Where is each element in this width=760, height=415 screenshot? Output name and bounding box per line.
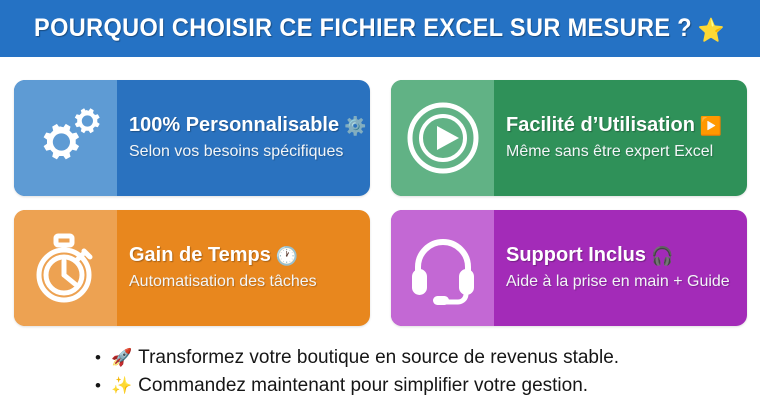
list-item: • 🚀 Transformez votre boutique en source… bbox=[95, 344, 665, 372]
card-title: Facilité d’Utilisation▶️ bbox=[506, 114, 737, 137]
card-title-text: Facilité d’Utilisation bbox=[506, 114, 695, 136]
play-button-emoji: ▶️ bbox=[700, 116, 722, 136]
star-emoji: ⭐ bbox=[698, 17, 725, 43]
feature-card-personnalisable[interactable]: 100% Personnalisable⚙️ Selon vos besoins… bbox=[14, 80, 370, 196]
card-icon-panel bbox=[391, 210, 494, 326]
sparkles-emoji: ✨ bbox=[111, 374, 132, 399]
stopwatch-icon bbox=[29, 230, 103, 306]
card-body: Support Inclus🎧 Aide à la prise en main … bbox=[494, 210, 747, 326]
card-title-text: Support Inclus bbox=[506, 244, 646, 266]
card-body: Facilité d’Utilisation▶️ Même sans être … bbox=[494, 80, 747, 196]
page-title: POURQUOI CHOISIR CE FICHIER EXCEL SUR ME… bbox=[35, 14, 726, 44]
feature-card-gain-de-temps[interactable]: Gain de Temps🕐 Automatisation des tâches bbox=[14, 210, 370, 326]
list-item-text: Transformez votre boutique en source de … bbox=[138, 344, 665, 372]
feature-card-support-inclus[interactable]: Support Inclus🎧 Aide à la prise en main … bbox=[391, 210, 747, 326]
feature-card-grid: 100% Personnalisable⚙️ Selon vos besoins… bbox=[14, 80, 747, 326]
card-icon-panel bbox=[14, 80, 117, 196]
card-title: Gain de Temps🕐 bbox=[129, 244, 360, 267]
headset-icon bbox=[406, 231, 480, 305]
bullet-dot: • bbox=[95, 374, 111, 399]
list-item: • ✨ Commandez maintenant pour simplifier… bbox=[95, 372, 665, 400]
card-subtitle: Automatisation des tâches bbox=[129, 272, 360, 291]
card-body: 100% Personnalisable⚙️ Selon vos besoins… bbox=[117, 80, 370, 196]
headphone-emoji: 🎧 bbox=[651, 246, 673, 266]
card-title: Support Inclus🎧 bbox=[506, 244, 737, 267]
gears-icon bbox=[28, 104, 104, 172]
gear-emoji: ⚙️ bbox=[344, 116, 366, 136]
card-title-text: Gain de Temps bbox=[129, 244, 271, 266]
card-subtitle: Selon vos besoins spécifiques bbox=[129, 142, 367, 161]
card-title: 100% Personnalisable⚙️ bbox=[129, 114, 367, 137]
rocket-emoji: 🚀 bbox=[111, 346, 132, 371]
card-icon-panel bbox=[391, 80, 494, 196]
card-body: Gain de Temps🕐 Automatisation des tâches bbox=[117, 210, 370, 326]
list-item-text: Commandez maintenant pour simplifier vot… bbox=[138, 372, 665, 400]
header-banner: POURQUOI CHOISIR CE FICHIER EXCEL SUR ME… bbox=[0, 0, 760, 57]
card-subtitle: Aide à la prise en main + Guide bbox=[506, 272, 737, 291]
card-subtitle: Même sans être expert Excel bbox=[506, 142, 737, 161]
page-title-text: POURQUOI CHOISIR CE FICHIER EXCEL SUR ME… bbox=[35, 14, 693, 42]
card-title-text: 100% Personnalisable bbox=[129, 114, 339, 136]
play-circle-icon bbox=[406, 101, 480, 175]
bullet-dot: • bbox=[95, 346, 111, 371]
clock-emoji: 🕐 bbox=[276, 246, 298, 266]
feature-card-facilite-utilisation[interactable]: Facilité d’Utilisation▶️ Même sans être … bbox=[391, 80, 747, 196]
card-icon-panel bbox=[14, 210, 117, 326]
benefit-list: • 🚀 Transformez votre boutique en source… bbox=[0, 344, 760, 399]
